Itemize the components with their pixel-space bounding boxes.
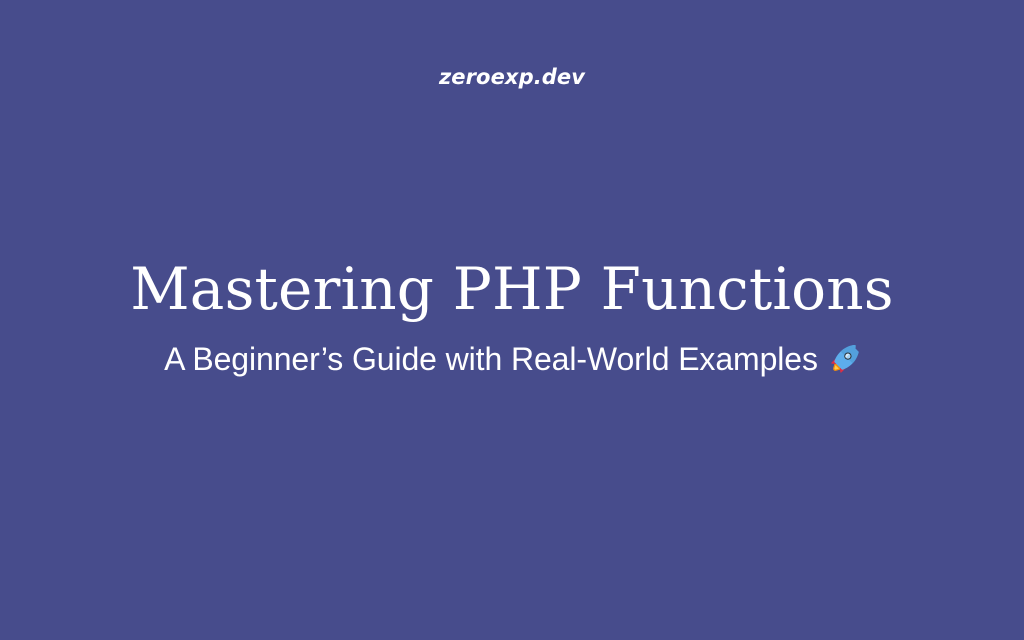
page-title: Mastering PHP Functions xyxy=(130,258,894,320)
rocket-icon xyxy=(828,344,860,376)
page-subtitle: A Beginner’s Guide with Real-World Examp… xyxy=(164,340,860,378)
hero-block: Mastering PHP Functions A Beginner’s Gui… xyxy=(0,258,1024,378)
site-name: zeroexp.dev xyxy=(0,63,1024,91)
og-card: zeroexp.dev Mastering PHP Functions A Be… xyxy=(0,0,1024,640)
page-subtitle-text: A Beginner’s Guide with Real-World Examp… xyxy=(164,340,818,378)
